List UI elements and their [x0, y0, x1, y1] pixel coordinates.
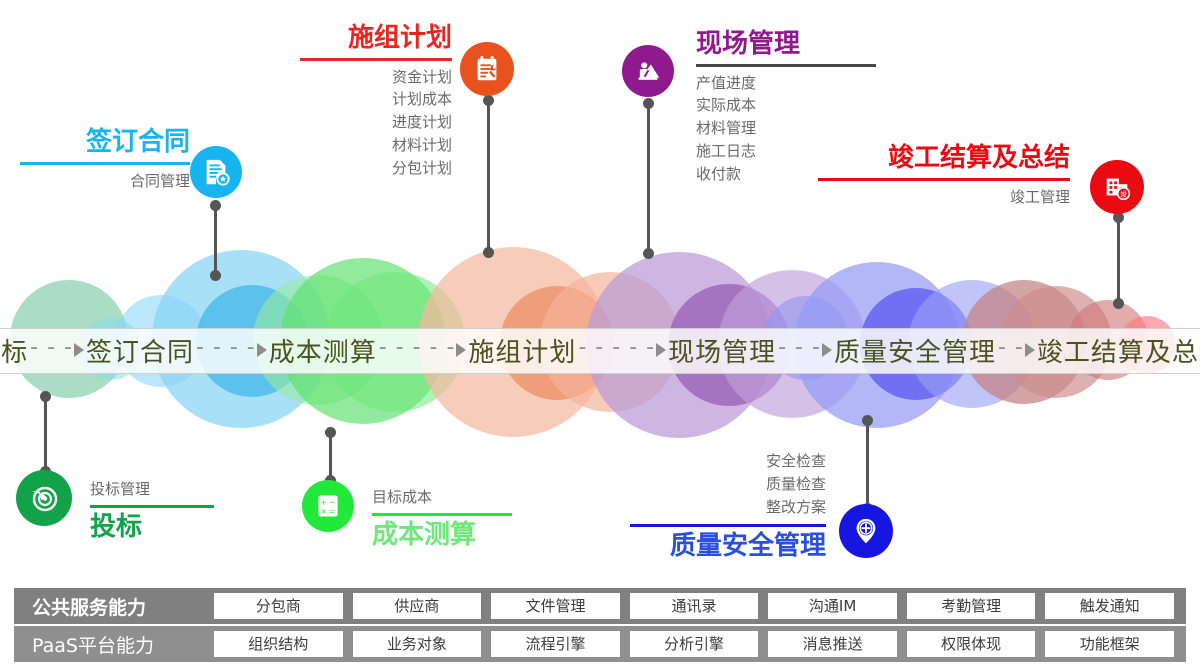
process-flow: 投标- - -签订合同- - - -成本测算- - - - -施组计划- - -…: [0, 328, 1200, 372]
callout-completion: 竣工结算及总结 竣工管理: [818, 144, 1070, 207]
callout-item: 计划成本: [300, 88, 452, 111]
svg-text:竣: 竣: [1120, 190, 1127, 199]
capability-row-label: 公共服务能力: [14, 593, 214, 620]
contract-document-icon[interactable]: [190, 146, 242, 198]
callout-item: 分包计划: [300, 157, 452, 180]
flow-step-3[interactable]: 成本测算: [269, 332, 377, 369]
callout-subtitle: 合同管理: [20, 170, 190, 191]
capability-row: PaaS平台能力组织结构业务对象流程引擎分析引擎消息推送权限体现功能框架: [14, 626, 1186, 662]
callout-contract: 签订合同 合同管理: [20, 128, 190, 191]
callout-plan: 施组计划 资金计划计划成本进度计划材料计划分包计划: [300, 24, 452, 180]
connector-dot: [483, 247, 494, 258]
flow-step-5[interactable]: 现场管理: [668, 332, 776, 369]
capability-cell[interactable]: 通讯录: [630, 593, 759, 619]
capability-cell[interactable]: 供应商: [353, 593, 482, 619]
callout-title: 现场管理: [696, 30, 876, 59]
svg-text:=: =: [329, 507, 336, 516]
connector-dot: [483, 95, 494, 106]
flow-arrow-icon: - - - -: [194, 339, 269, 361]
capability-cells: 分包商供应商文件管理通讯录沟通IM考勤管理触发通知: [214, 593, 1186, 619]
callout-rule: [90, 505, 214, 508]
calculator-icon[interactable]: + − × =: [302, 480, 354, 532]
flow-step-4[interactable]: 施组计划: [468, 332, 576, 369]
connector-quality: [866, 420, 869, 508]
connector-dot: [210, 200, 221, 211]
flow-arrow-icon: - - -: [776, 339, 834, 361]
callout-subtitle: 竣工管理: [818, 186, 1070, 207]
connector-dot: [862, 415, 873, 426]
capability-cell[interactable]: 权限体现: [907, 631, 1036, 657]
flow-step-1[interactable]: 投标: [0, 332, 28, 369]
flow-arrow-icon: - - - - -: [576, 339, 668, 361]
callout-item: 材料计划: [300, 134, 452, 157]
callout-title: 施组计划: [300, 24, 452, 53]
callout-item: 资金计划: [300, 66, 452, 89]
capability-cell[interactable]: 分析引擎: [630, 631, 759, 657]
callout-item: 质量检查: [630, 473, 826, 496]
callout-item-list: 安全检查质量检查整改方案: [630, 450, 826, 518]
callout-bid: 投标管理 投标: [90, 478, 214, 542]
callout-title: 签订合同: [20, 128, 190, 157]
capability-cell[interactable]: 分包商: [214, 593, 343, 619]
callout-rule: [630, 524, 826, 527]
svg-text:−: −: [329, 498, 336, 507]
capability-cell[interactable]: 流程引擎: [491, 631, 620, 657]
callout-item: 安全检查: [630, 450, 826, 473]
svg-text:+: +: [320, 498, 327, 507]
callout-cost: 目标成本 成本测算: [372, 486, 512, 550]
capability-cell[interactable]: 文件管理: [491, 593, 620, 619]
callout-quality: 安全检查质量检查整改方案 质量安全管理: [630, 450, 826, 561]
connector-contract: [214, 205, 217, 275]
map-pin-plus-icon[interactable]: [839, 504, 893, 558]
capability-cell[interactable]: 功能框架: [1045, 631, 1174, 657]
capability-cell[interactable]: 触发通知: [1045, 593, 1174, 619]
callout-subtitle: 目标成本: [372, 486, 512, 507]
flow-step-7[interactable]: 竣工结算及总结: [1037, 332, 1200, 369]
connector-dot: [40, 391, 51, 402]
capability-table: 公共服务能力分包商供应商文件管理通讯录沟通IM考勤管理触发通知PaaS平台能力组…: [14, 588, 1186, 662]
connector-dot: [1113, 298, 1124, 309]
callout-rule: [20, 162, 190, 165]
flow-arrow-icon: - - -: [28, 339, 86, 361]
flow-step-6[interactable]: 质量安全管理: [834, 332, 996, 369]
capability-cell[interactable]: 沟通IM: [768, 593, 897, 619]
building-completion-icon[interactable]: 竣: [1090, 160, 1144, 214]
connector-site: [647, 103, 650, 253]
connector-dot: [210, 270, 221, 281]
svg-text:×: ×: [320, 507, 327, 516]
callout-title: 竣工结算及总结: [818, 144, 1070, 173]
connector-bid: [44, 396, 47, 471]
flow-step-2[interactable]: 签订合同: [86, 332, 194, 369]
clipboard-wrench-icon[interactable]: [460, 42, 514, 96]
target-arrow-icon[interactable]: [16, 470, 72, 526]
capability-row: 公共服务能力分包商供应商文件管理通讯录沟通IM考勤管理触发通知: [14, 588, 1186, 624]
flow-arrow-icon: - - - - -: [377, 339, 469, 361]
callout-item: 进度计划: [300, 111, 452, 134]
connector-completion: [1117, 217, 1120, 303]
callout-item: 材料管理: [696, 117, 876, 140]
construction-worker-icon[interactable]: [622, 45, 674, 97]
connector-dot: [325, 427, 336, 438]
capability-cells: 组织结构业务对象流程引擎分析引擎消息推送权限体现功能框架: [214, 631, 1186, 657]
capability-row-label: PaaS平台能力: [14, 631, 214, 658]
connector-dot: [643, 98, 654, 109]
connector-dot: [643, 248, 654, 259]
capability-cell[interactable]: 组织结构: [214, 631, 343, 657]
callout-subtitle: 投标管理: [90, 478, 214, 499]
callout-title: 质量安全管理: [630, 532, 826, 561]
callout-rule: [696, 64, 876, 67]
callout-rule: [300, 58, 452, 61]
callout-rule: [372, 513, 512, 516]
capability-cell[interactable]: 考勤管理: [907, 593, 1036, 619]
capability-cell[interactable]: 业务对象: [353, 631, 482, 657]
diagram-canvas: 投标- - -签订合同- - - -成本测算- - - - -施组计划- - -…: [0, 0, 1200, 666]
callout-title: 投标: [90, 513, 214, 542]
flow-arrow-icon: - -: [996, 339, 1037, 361]
callout-rule: [818, 178, 1070, 181]
callout-item: 产值进度: [696, 72, 876, 95]
connector-cost: [329, 432, 332, 480]
callout-item-list: 资金计划计划成本进度计划材料计划分包计划: [300, 66, 452, 180]
capability-cell[interactable]: 消息推送: [768, 631, 897, 657]
callout-title: 成本测算: [372, 521, 512, 550]
callout-item: 整改方案: [630, 496, 826, 519]
callout-item: 实际成本: [696, 94, 876, 117]
connector-plan: [487, 100, 490, 252]
